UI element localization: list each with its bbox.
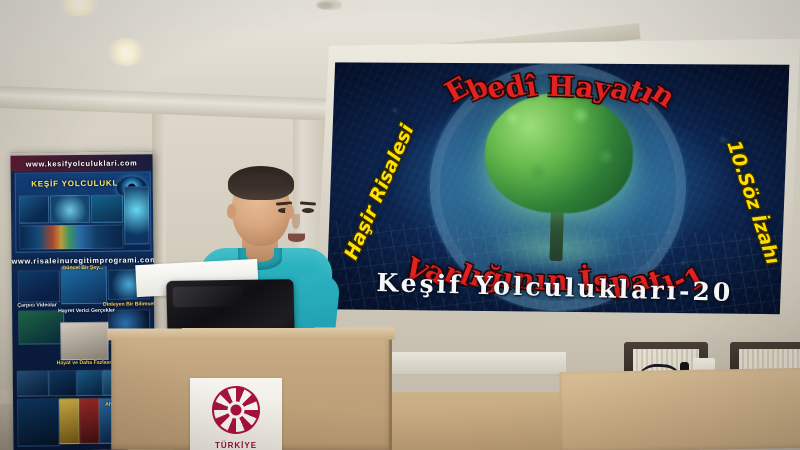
banner-thumb — [19, 195, 49, 223]
banner-cell — [77, 370, 103, 396]
banner-cell — [17, 370, 49, 396]
banner-cell — [18, 270, 60, 302]
banner-caption: Güncel Bir Şey... — [60, 265, 106, 271]
screenshot-scene: Ebedî Hayatın Varlığının İspatı-1 Haşir … — [0, 0, 800, 450]
banner-cell — [17, 398, 60, 446]
banner-color-strip — [19, 225, 123, 250]
banner-hero-block: KEŞİF YOLCULUKLARI — [15, 171, 152, 252]
banner-cell — [18, 310, 64, 344]
lectern-logo-plate: TÜRKİYE — [190, 378, 282, 450]
banner-cell — [60, 322, 108, 361]
tree-graphic — [481, 91, 636, 263]
banner-thumb — [124, 186, 150, 244]
banner-caption: Çarpıcı Videolar — [14, 302, 60, 308]
institution-emblem-icon — [212, 386, 260, 434]
presenter-hair — [228, 166, 294, 200]
ear — [285, 204, 294, 219]
banner-caption: Hayat ve Daha Fazlası Sizi Bekliyor! — [57, 360, 103, 366]
mouth — [288, 234, 305, 242]
banner-cell — [49, 370, 77, 396]
eyebrow — [300, 201, 316, 205]
institution-name: TÜRKİYE — [190, 441, 282, 450]
lectern-top-edge — [107, 327, 395, 340]
banner-cell — [59, 398, 79, 444]
banner-caption: Hayret Verici Gerçekler — [58, 308, 104, 314]
banner-thumb — [50, 195, 90, 223]
nose — [292, 214, 300, 229]
eye — [302, 208, 314, 213]
banner-thumb — [91, 195, 123, 223]
spot-light-icon — [106, 38, 146, 66]
tree-canopy — [483, 91, 634, 215]
projection-screen[interactable]: Ebedî Hayatın Varlığının İspatı-1 Haşir … — [314, 25, 800, 348]
seminar-desk — [559, 368, 800, 450]
banner-url-top[interactable]: www.kesifyolculuklari.com — [11, 158, 153, 168]
smoke-detector-icon — [318, 2, 332, 9]
slide-canvas: Ebedî Hayatın Varlığının İspatı-1 Haşir … — [326, 52, 789, 322]
banner-cell — [79, 398, 99, 444]
ear — [227, 204, 236, 219]
banner-cell — [61, 266, 107, 304]
